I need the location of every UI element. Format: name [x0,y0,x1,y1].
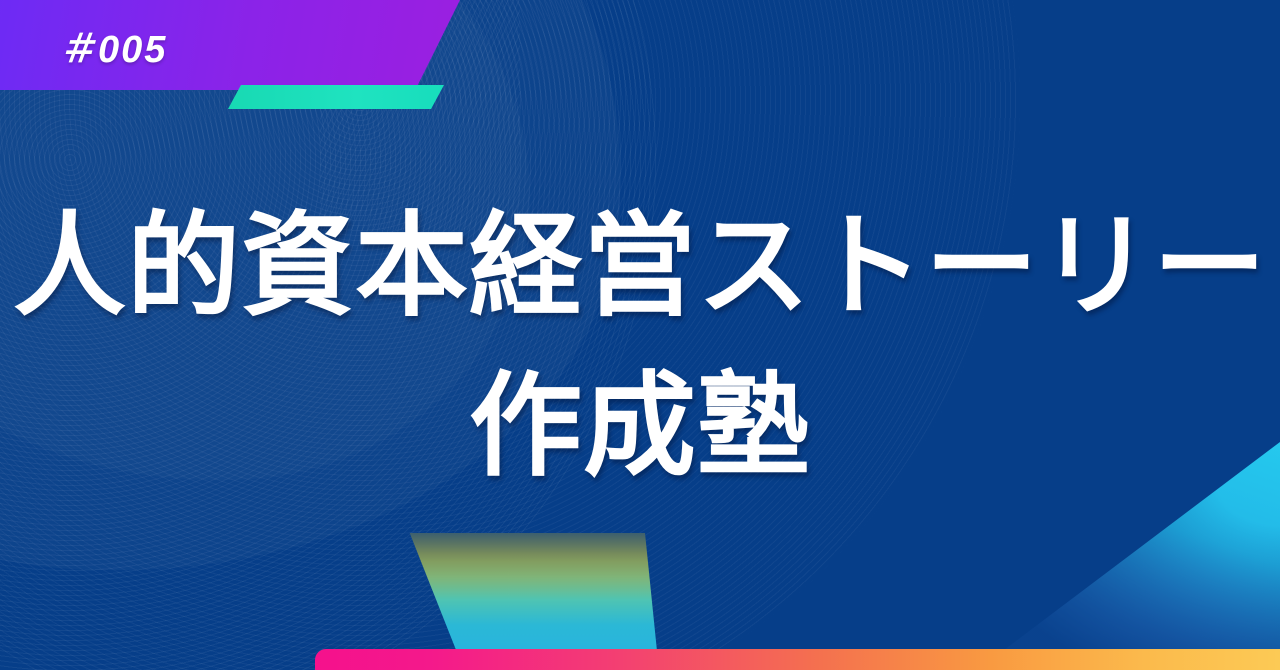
issue-number-label: ＃005 [58,18,167,73]
banner-slide: ＃005 人的資本経営ストーリー 作成塾 [0,0,1280,670]
badge-accent-bar [228,85,444,109]
title-line-1: 人的資本経営ストーリー [0,186,1280,346]
bottom-gradient-bar [315,649,1280,670]
title-line-2: 作成塾 [0,346,1280,506]
issue-number-badge: ＃005 [0,0,460,90]
page-title: 人的資本経営ストーリー 作成塾 [0,186,1280,507]
